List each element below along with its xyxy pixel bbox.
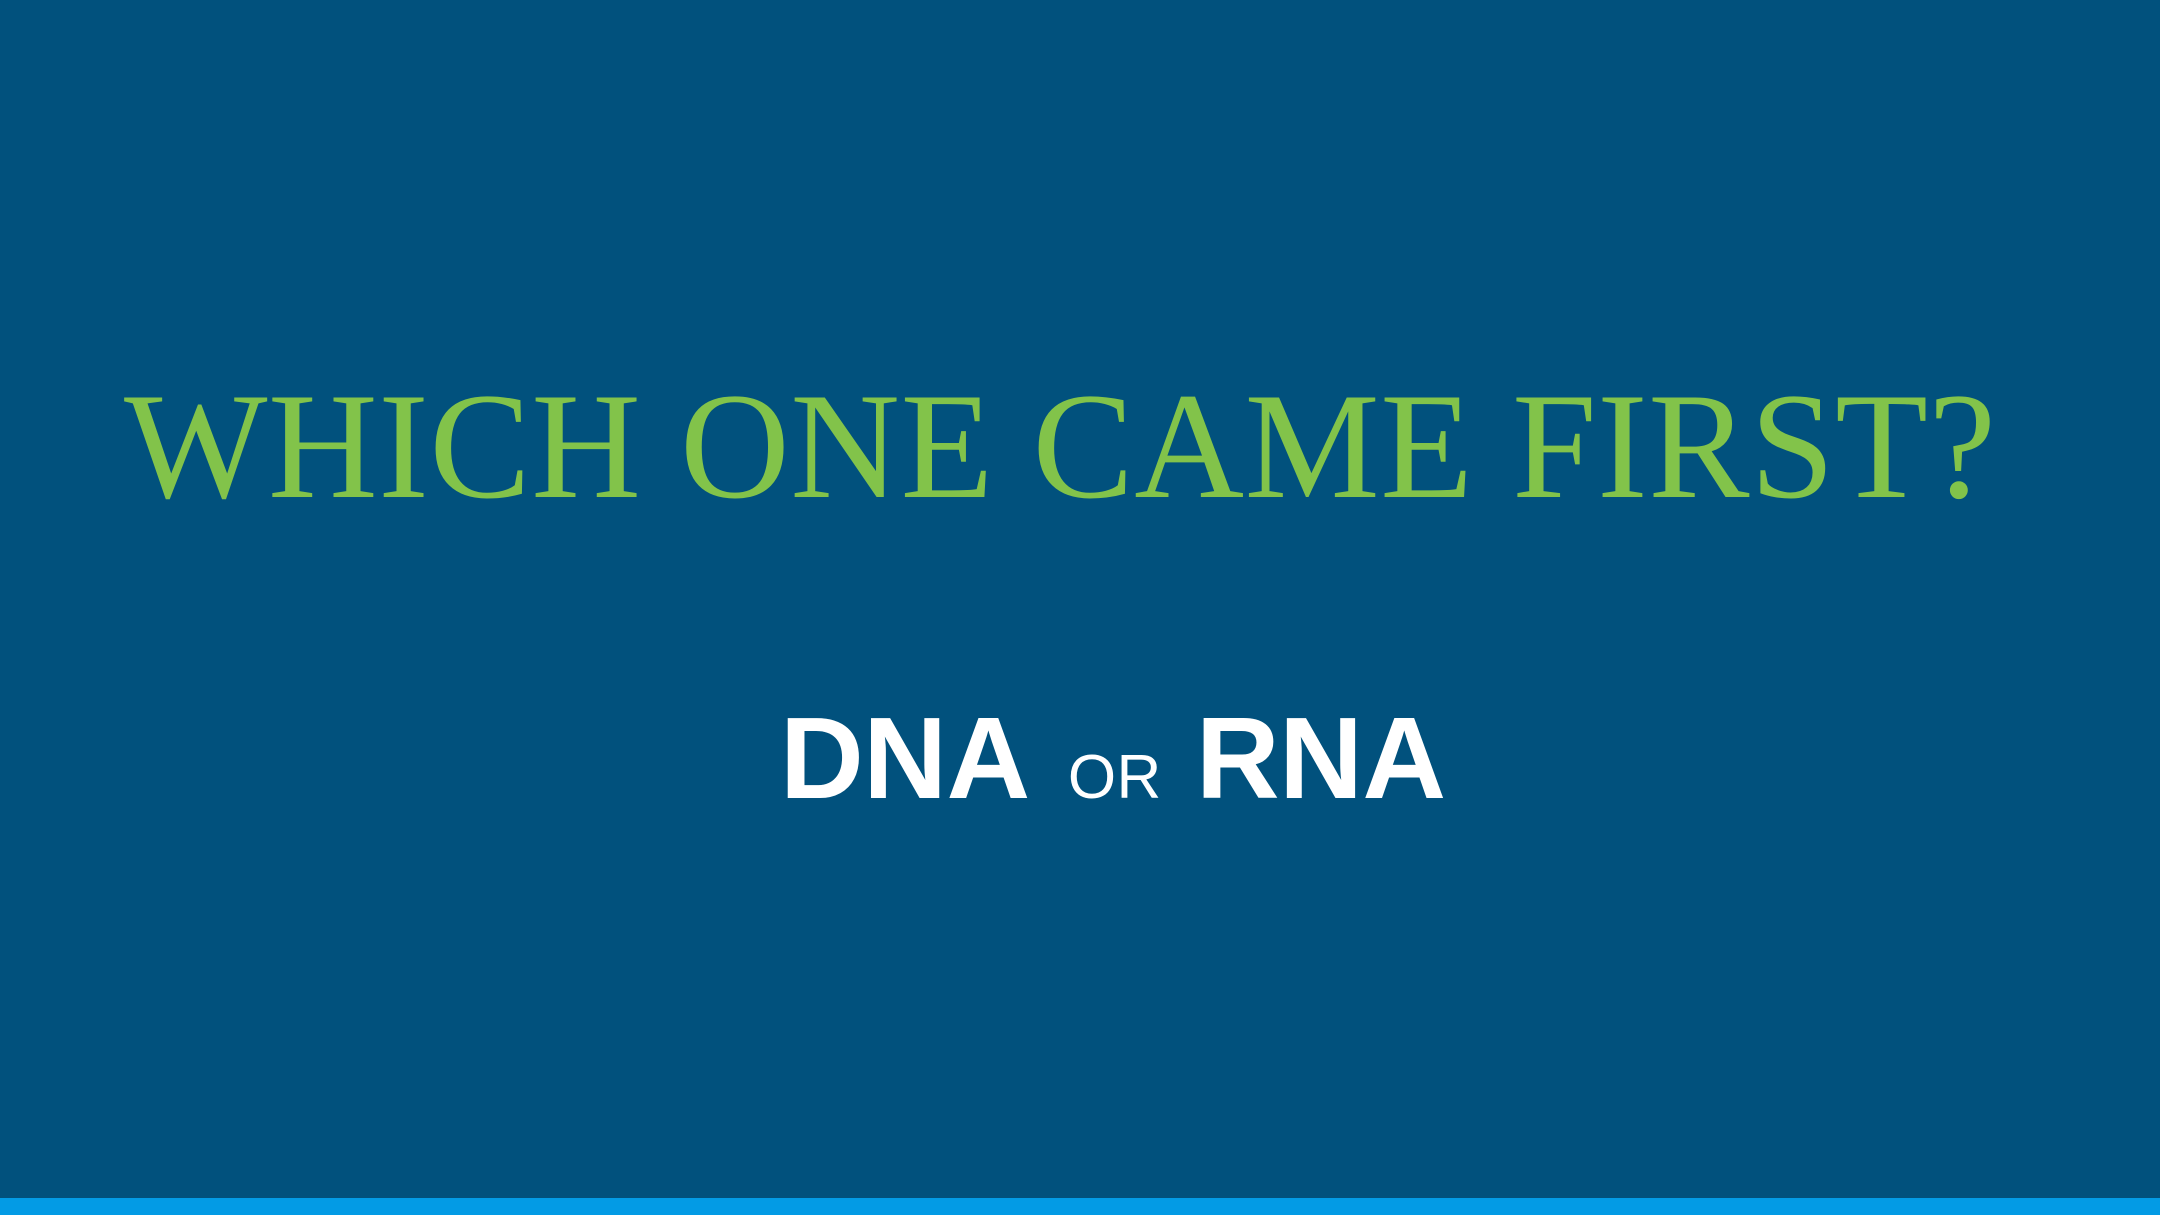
page-title: WHICH ONE CAME FIRST? <box>124 370 1996 522</box>
choice-option-dna: DNA <box>780 700 1030 816</box>
choice-conjunction-label: OR <box>1068 747 1162 809</box>
choice-block: DNA OR RNA <box>780 700 1446 825</box>
choice-option-rna: RNA <box>1196 700 1446 816</box>
slide-canvas: WHICH ONE CAME FIRST? DNA OR RNA <box>0 0 2160 1215</box>
title-block: WHICH ONE CAME FIRST? <box>124 352 2054 522</box>
bottom-accent-bar <box>0 1198 2160 1215</box>
